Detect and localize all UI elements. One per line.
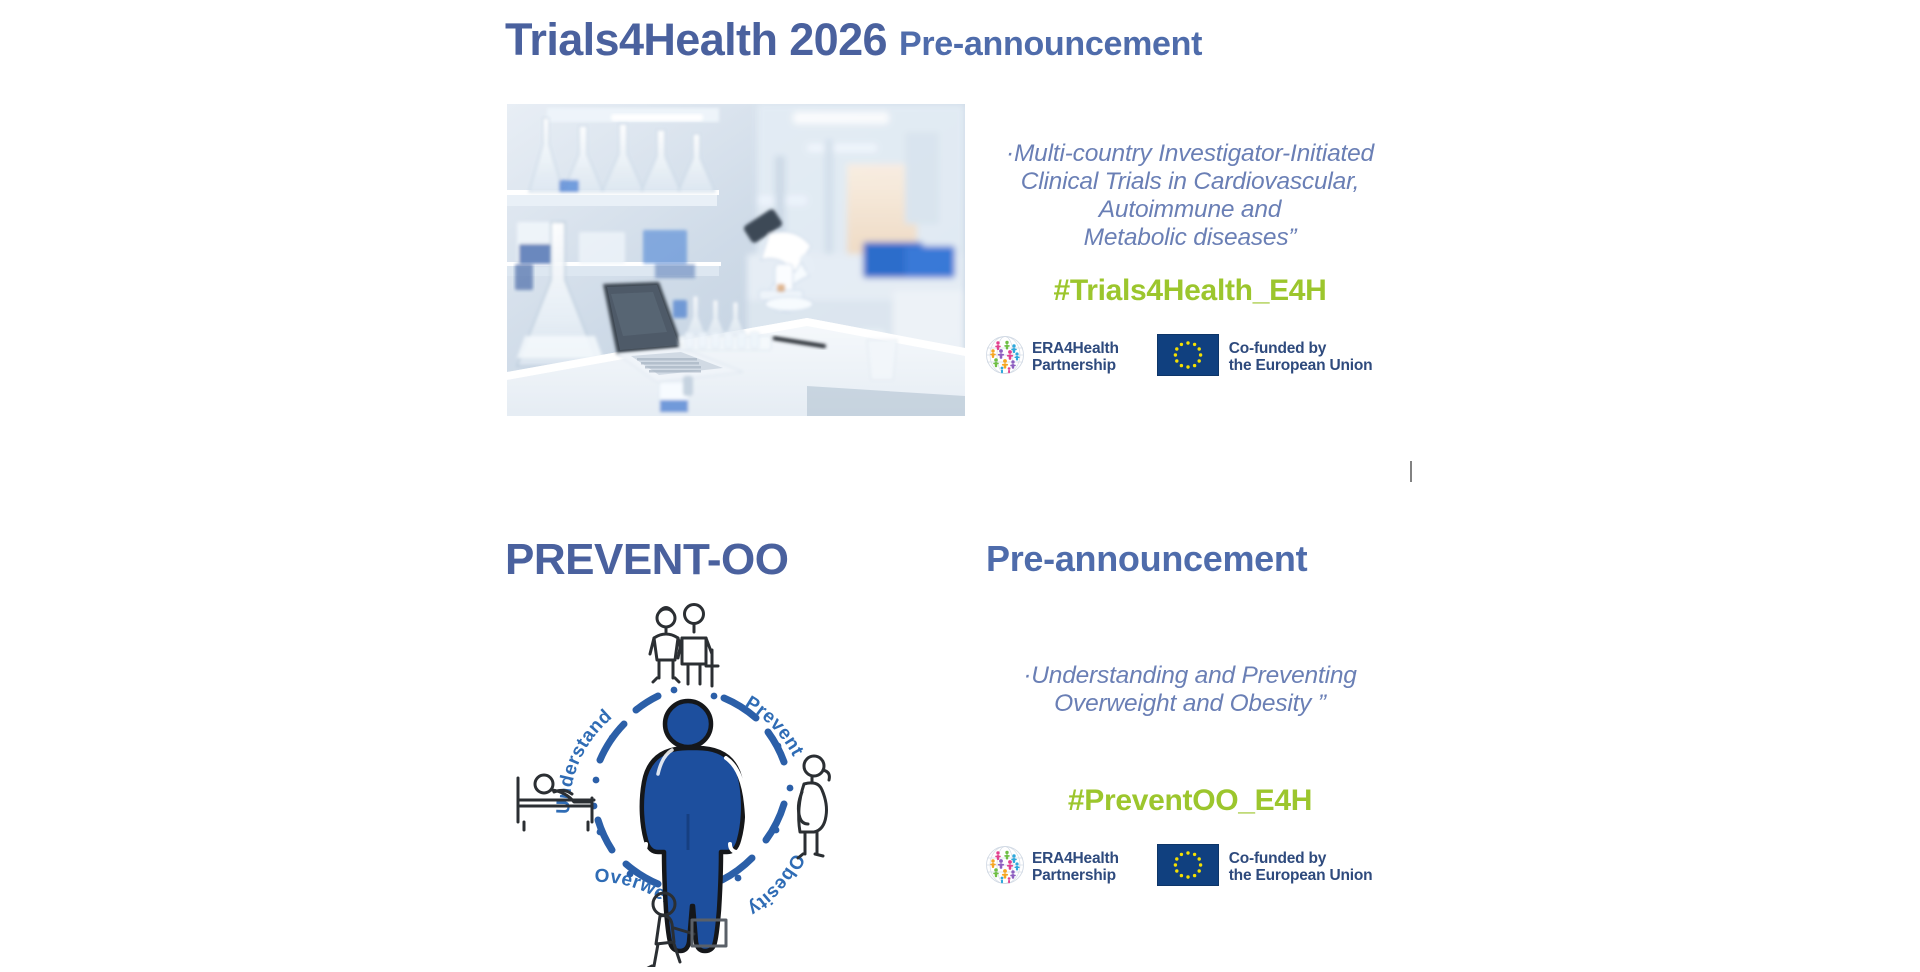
era-line-2: Partnership [1032, 867, 1116, 884]
era-line-1: ERA4Health [1032, 850, 1119, 867]
quote-line: Autoimmune and [975, 196, 1405, 224]
eu-line-2: the European Union [1229, 867, 1373, 884]
preventoo-quote: ·Understanding and Preventing Overweight… [975, 662, 1405, 718]
quote-line: Metabolic diseases” [975, 224, 1405, 252]
trials4health-title-row: Trials4Health 2026Pre-announcement [505, 14, 1405, 66]
era-line-1: ERA4Health [1032, 340, 1119, 357]
eu-cofunded-logo: Co-funded by the European Union [1157, 334, 1373, 381]
laboratory-photo [507, 104, 965, 416]
eu-flag-icon [1157, 334, 1219, 381]
preventoo-title: PREVENT-OO [505, 535, 789, 585]
eu-line-1: Co-funded by [1229, 850, 1326, 867]
quote-line: ·Multi-country Investigator-Initiated [975, 140, 1405, 168]
eu-logo-text: Co-funded by the European Union [1229, 850, 1373, 885]
era-line-2: Partnership [1032, 357, 1116, 374]
pregnant-woman-icon [798, 756, 829, 858]
eu-line-1: Co-funded by [1229, 340, 1326, 357]
elderly-couple-icon [650, 605, 718, 687]
preventoo-subtitle: Pre-announcement [986, 538, 1307, 580]
era4health-globe-icon [985, 335, 1025, 380]
era4health-logo: ERA4Health Partnership [985, 335, 1119, 380]
era4health-logo: ERA4Health Partnership [985, 845, 1119, 890]
eu-cofunded-logo: Co-funded by the European Union [1157, 844, 1373, 891]
trials4health-quote: ·Multi-country Investigator-Initiated Cl… [975, 140, 1405, 252]
obese-person-icon [629, 701, 747, 951]
trials4health-subtitle: Pre-announcement [899, 25, 1202, 63]
quote-line: Clinical Trials in Cardiovascular, [975, 168, 1405, 196]
eu-flag-icon [1157, 844, 1219, 891]
trials4health-title: Trials4Health 2026 [505, 14, 887, 65]
text-caret [1410, 461, 1412, 482]
arc-label-prevent: Prevent [741, 692, 807, 760]
era4health-logo-text: ERA4Health Partnership [1032, 340, 1119, 375]
eu-logo-text: Co-funded by the European Union [1229, 340, 1373, 375]
trials4health-right-column: ·Multi-country Investigator-Initiated Cl… [975, 140, 1405, 381]
era4health-globe-icon [985, 845, 1025, 890]
trials4health-hashtag: #Trials4Health_E4H [975, 274, 1405, 308]
preventoo-hashtag: #PreventOO_E4H [975, 784, 1405, 818]
era4health-logo-text: ERA4Health Partnership [1032, 850, 1119, 885]
funding-logo-bar: ERA4Health Partnership [985, 334, 1405, 381]
quote-line: ·Understanding and Preventing [975, 662, 1405, 690]
slide-canvas: Trials4Health 2026Pre-announcement [0, 0, 1920, 962]
quote-line: Overweight and Obesity ” [975, 690, 1405, 718]
preventoo-cycle-diagram: .arcLabel { font-family: "Liberation San… [508, 592, 868, 967]
eu-line-2: the European Union [1229, 357, 1373, 374]
arc-label-understand: Understand [553, 705, 616, 814]
preventoo-right-column: ·Understanding and Preventing Overweight… [975, 662, 1405, 891]
funding-logo-bar: ERA4Health Partnership [985, 844, 1405, 891]
